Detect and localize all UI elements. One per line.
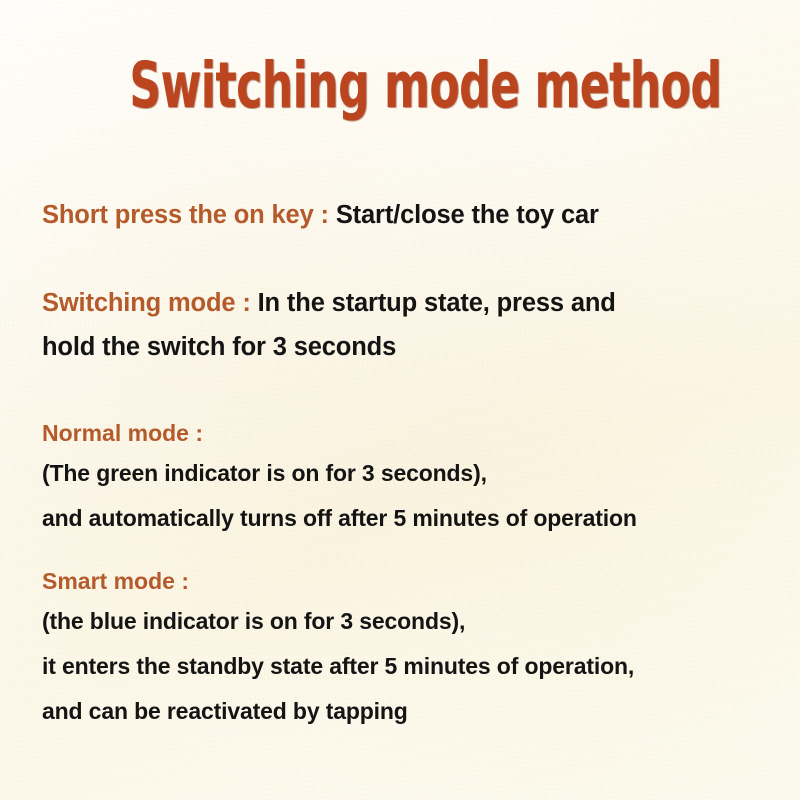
switching-mode-line-1: Switching mode : In the startup state, p… — [42, 281, 766, 325]
instruction-poster: Switching mode method Short press the on… — [0, 0, 800, 800]
smart-mode-line-2: it enters the standby state after 5 minu… — [42, 644, 766, 689]
normal-mode-line-1: (The green indicator is on for 3 seconds… — [42, 451, 766, 496]
section-switching-mode: Switching mode : In the startup state, p… — [42, 281, 766, 369]
section-short-press: Short press the on key : Start/close the… — [42, 196, 766, 234]
section-smart-mode: Smart mode : (the blue indicator is on f… — [42, 563, 766, 734]
switching-mode-value: In the startup state, press and — [258, 289, 616, 317]
smart-mode-line-1: (the blue indicator is on for 3 seconds)… — [42, 599, 766, 644]
page-title: Switching mode method — [129, 54, 721, 118]
normal-mode-line-2: and automatically turns off after 5 minu… — [42, 496, 766, 541]
short-press-value: Start/close the toy car — [336, 201, 599, 229]
switching-mode-label: Switching mode : — [42, 289, 251, 317]
title-container: Switching mode method — [0, 54, 800, 118]
smart-mode-line-3: and can be reactivated by tapping — [42, 689, 766, 734]
normal-mode-label: Normal mode : — [42, 415, 766, 451]
switching-mode-line-2: hold the switch for 3 seconds — [42, 325, 766, 369]
smart-mode-label: Smart mode : — [42, 563, 766, 599]
section-normal-mode: Normal mode : (The green indicator is on… — [42, 415, 766, 541]
poster-content: Switching mode method Short press the on… — [0, 0, 800, 800]
short-press-line: Short press the on key : Start/close the… — [42, 196, 766, 234]
short-press-label: Short press the on key : — [42, 201, 329, 229]
